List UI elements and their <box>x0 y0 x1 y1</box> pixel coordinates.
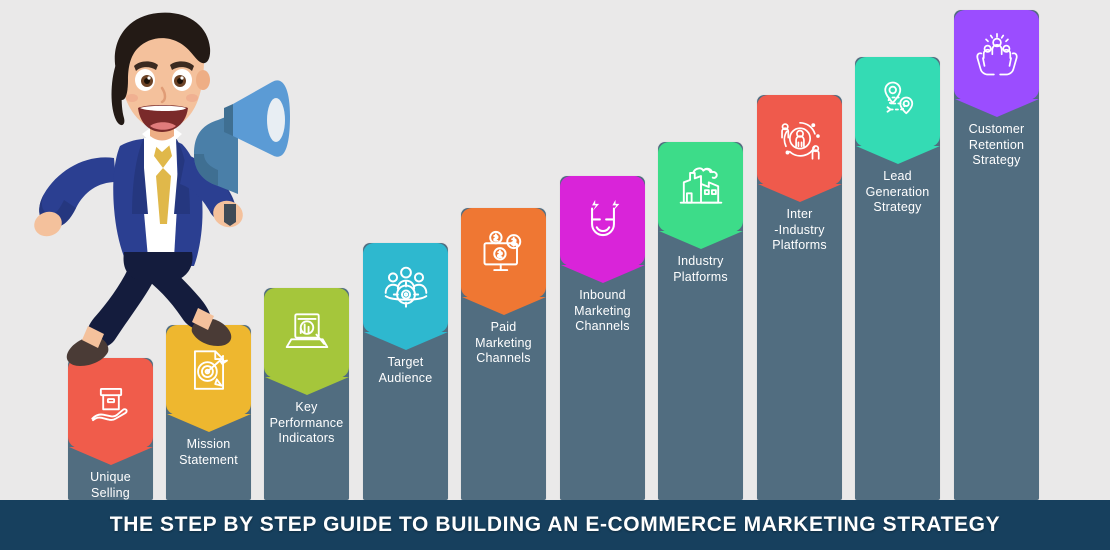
step-badge-chevron <box>855 146 940 164</box>
step-badge[interactable] <box>757 95 842 185</box>
step-label: Mission Statement <box>168 437 249 468</box>
step-label: Inbound Marketing Channels <box>562 288 643 335</box>
step-label: Target Audience <box>365 355 446 386</box>
staircase-step-9[interactable]: Lead Generation Strategy <box>855 57 940 500</box>
infographic-canvas: Unique Selling Proposition Mission State… <box>0 0 1110 550</box>
hands-customers-icon <box>954 10 1039 100</box>
step-badge[interactable] <box>363 243 448 333</box>
step-label: Lead Generation Strategy <box>857 169 938 216</box>
step-badge[interactable] <box>658 142 743 232</box>
monitor-money-icon <box>461 208 546 298</box>
staircase-step-10[interactable]: Customer Retention Strategy <box>954 10 1039 500</box>
location-pins-route-icon <box>855 57 940 147</box>
step-badge[interactable] <box>954 10 1039 100</box>
magnet-icon <box>560 176 645 266</box>
step-badge-chevron <box>461 297 546 315</box>
step-badge-chevron <box>68 447 153 465</box>
step-badge[interactable] <box>461 208 546 298</box>
step-badge-chevron <box>166 414 251 432</box>
step-label: Industry Platforms <box>660 254 741 285</box>
step-label: Paid Marketing Channels <box>463 320 544 367</box>
step-label: Customer Retention Strategy <box>956 122 1037 169</box>
audience-target-icon <box>363 243 448 333</box>
step-badge-chevron <box>757 184 842 202</box>
step-badge[interactable] <box>855 57 940 147</box>
staircase-step-5[interactable]: Paid Marketing Channels <box>461 208 546 500</box>
step-badge-chevron <box>363 332 448 350</box>
step-badge-chevron <box>658 231 743 249</box>
factory-icon <box>658 142 743 232</box>
step-badge[interactable] <box>560 176 645 266</box>
step-badge-chevron <box>954 99 1039 117</box>
staircase-step-8[interactable]: Inter -Industry Platforms <box>757 95 842 500</box>
people-network-icon <box>757 95 842 185</box>
staircase-step-4[interactable]: Target Audience <box>363 243 448 500</box>
step-badge-chevron <box>560 265 645 283</box>
step-label: Inter -Industry Platforms <box>759 207 840 254</box>
page-title: THE STEP BY STEP GUIDE TO BUILDING AN E-… <box>110 513 1000 537</box>
staircase-step-6[interactable]: Inbound Marketing Channels <box>560 176 645 500</box>
staircase-step-7[interactable]: Industry Platforms <box>658 142 743 500</box>
title-banner: THE STEP BY STEP GUIDE TO BUILDING AN E-… <box>0 500 1110 550</box>
businessman-with-megaphone-illustration <box>28 8 296 408</box>
